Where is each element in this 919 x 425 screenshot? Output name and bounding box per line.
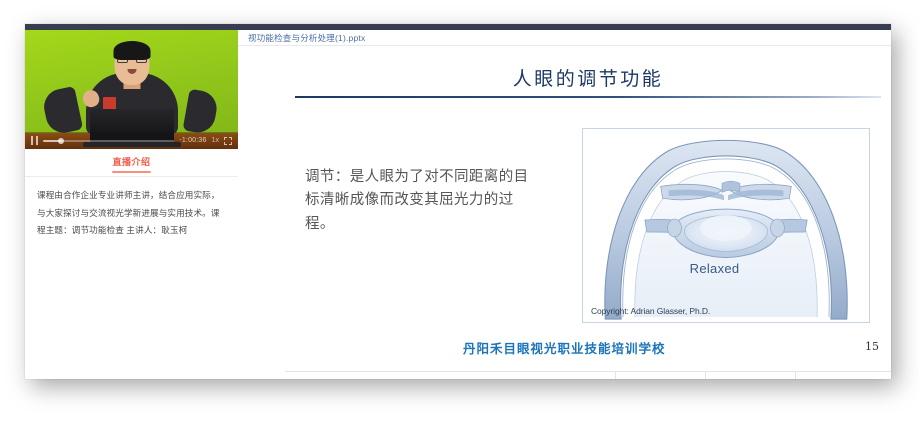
figure-caption: Relaxed <box>690 261 740 276</box>
slide-canvas[interactable]: 人眼的调节功能 调节：是人眼为了对不同距离的目标清晰成像而改变其屈光力的过程。 <box>285 46 891 379</box>
slide-body-text: 调节：是人眼为了对不同距离的目标清晰成像而改变其屈光力的过程。 <box>305 166 540 236</box>
pause-icon[interactable] <box>31 136 38 145</box>
next-slide-peek <box>285 371 891 379</box>
playback-speed-button[interactable]: 1x <box>212 137 219 144</box>
figure-copyright: Copyright: Adrian Glasser, Ph.D. <box>591 306 710 316</box>
slide-footer-org: 丹阳禾目眼视光职业技能培训学校 <box>463 338 666 357</box>
fullscreen-icon[interactable] <box>224 137 232 145</box>
slide-title-rule <box>295 96 881 98</box>
sidebar-tabbar: 直播介绍 <box>25 149 238 177</box>
presenter-hair <box>113 41 150 60</box>
slide-page-number: 15 <box>865 340 879 353</box>
video-progress-slider[interactable] <box>43 140 174 142</box>
screenshot-root: -1:00:36 1x 直播介绍 课程由合作企业专业讲师主讲，结合应用实际，与大… <box>0 0 919 425</box>
document-file-name: 视功能检查与分析处理(1).pptx <box>238 30 891 44</box>
slide-title: 人眼的调节功能 <box>285 64 891 91</box>
relaxed-eye-diagram: Relaxed Copyright: Adrian Glasser, Ph.D. <box>582 128 870 323</box>
live-sidebar: -1:00:36 1x 直播介绍 课程由合作企业专业讲师主讲，结合应用实际，与大… <box>25 30 238 379</box>
app-top-bar <box>25 24 891 30</box>
document-viewer: 视功能检查与分析处理(1).pptx 人眼的调节功能 调节：是人眼为了对不同距离… <box>238 30 891 379</box>
video-time-remaining: -1:00:36 <box>179 137 206 144</box>
live-video-player[interactable]: -1:00:36 1x <box>25 30 238 149</box>
video-progress-knob[interactable] <box>58 138 64 144</box>
video-control-bar[interactable]: -1:00:36 1x <box>25 132 238 149</box>
tab-live-intro[interactable]: 直播介绍 <box>112 155 150 171</box>
live-intro-text: 课程由合作企业专业讲师主讲，结合应用实际，与大家探讨与交流视光学新进展与实用技术… <box>25 177 238 379</box>
